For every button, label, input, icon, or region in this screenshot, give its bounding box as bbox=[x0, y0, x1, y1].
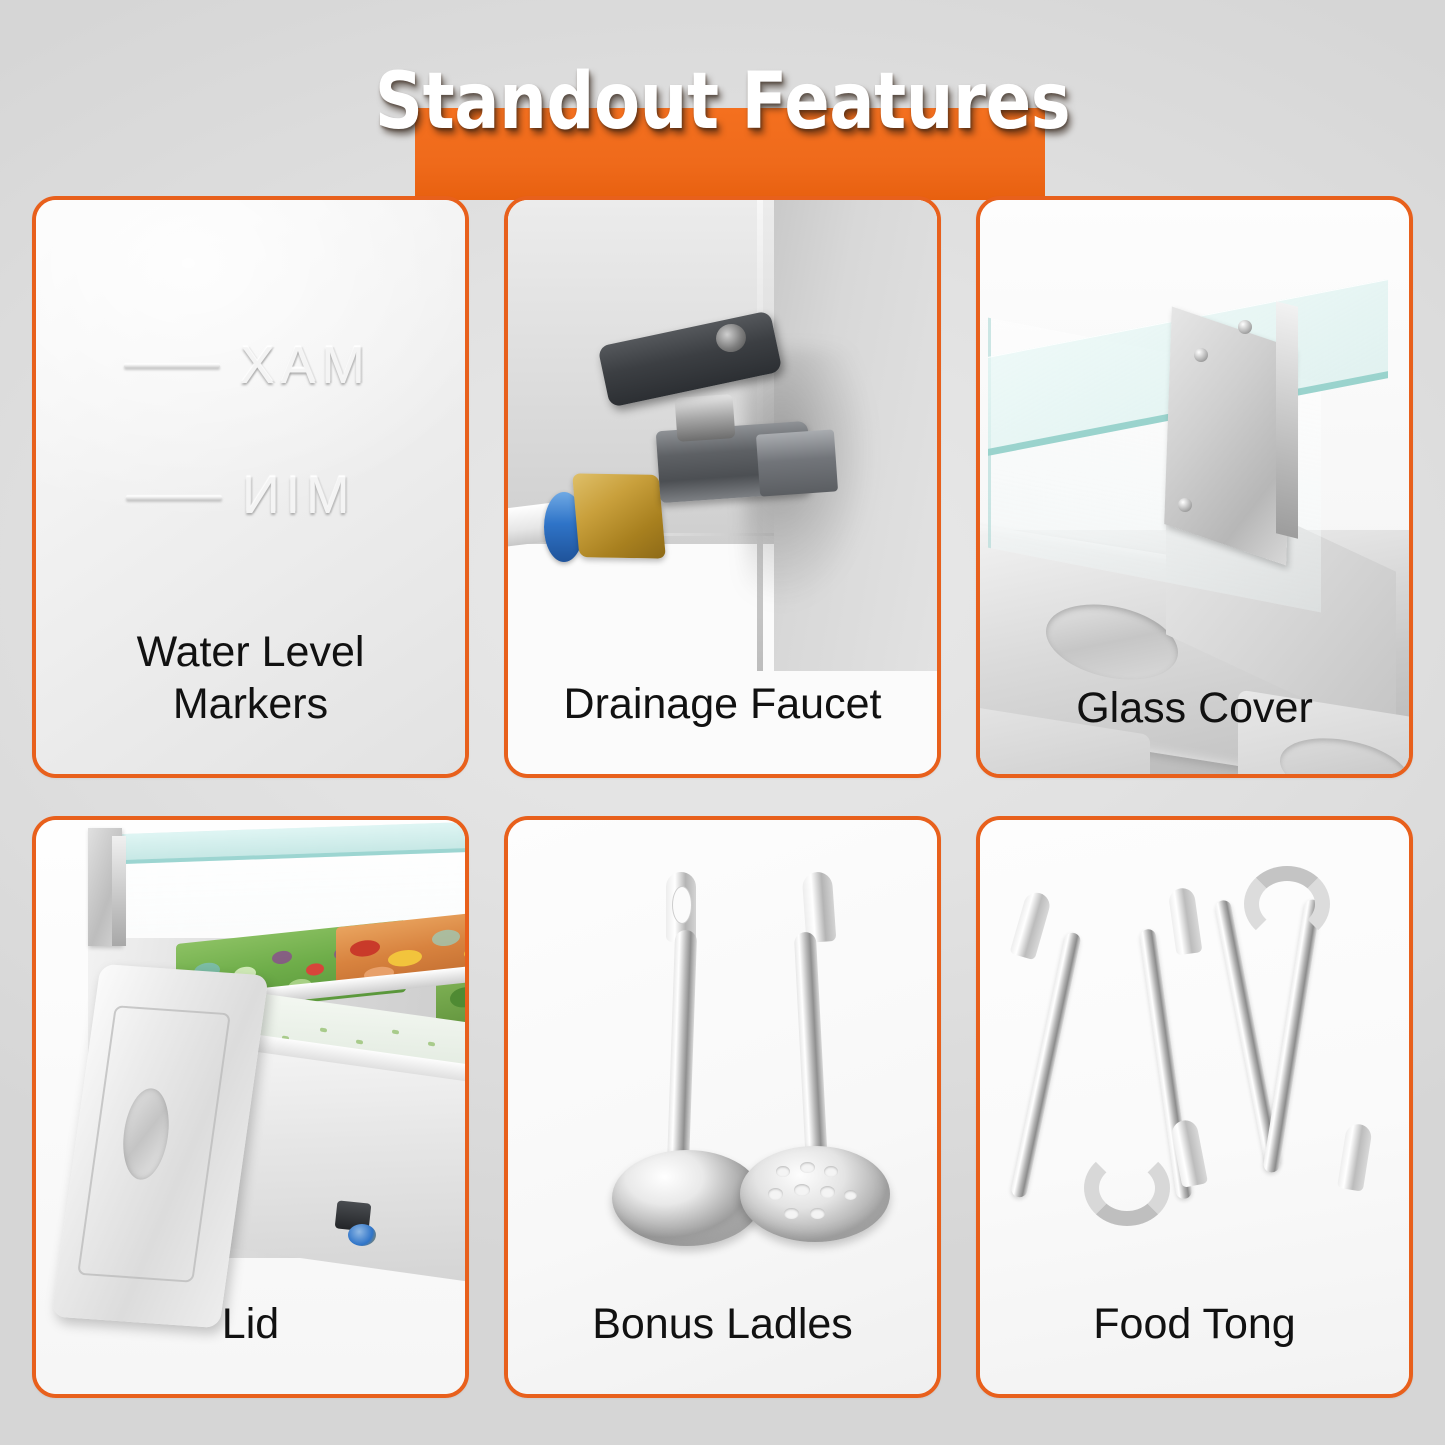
feature-card-lid[interactable]: Lid bbox=[32, 816, 469, 1398]
min-tick-line bbox=[126, 496, 222, 500]
feature-label-food-tong: Food Tong bbox=[980, 1298, 1409, 1350]
feature-label-water-level-markers-line2: Markers bbox=[36, 678, 465, 730]
valve-stem bbox=[675, 394, 736, 442]
feature-label-drainage-faucet: Drainage Faucet bbox=[508, 678, 937, 730]
feature-label-lid: Lid bbox=[36, 1298, 465, 1350]
glass-bracket bbox=[1164, 306, 1294, 565]
max-tick-line bbox=[124, 364, 220, 368]
page-title: Standout Features bbox=[0, 52, 1445, 162]
bracket-screw-icon bbox=[1238, 320, 1252, 334]
feature-card-water-level-markers[interactable]: MAX MIN Water Level Markers bbox=[32, 196, 469, 778]
embossed-max-text: MAX bbox=[234, 336, 365, 396]
feature-label-glass-cover: Glass Cover bbox=[980, 682, 1409, 734]
page-title-text: Standout Features bbox=[101, 52, 1344, 152]
feature-label-bonus-ladles: Bonus Ladles bbox=[508, 1298, 937, 1350]
valve-body-hex bbox=[756, 429, 838, 496]
feature-label-water-level-markers-line1: Water Level bbox=[36, 626, 465, 678]
feature-card-food-tong[interactable]: Food Tong bbox=[976, 816, 1413, 1398]
embossed-min-text: MIN bbox=[236, 466, 349, 526]
feature-grid: MAX MIN Water Level Markers bbox=[32, 196, 1413, 1398]
feature-card-glass-cover[interactable]: Glass Cover bbox=[976, 196, 1413, 778]
feature-card-bonus-ladles[interactable]: Bonus Ladles bbox=[504, 816, 941, 1398]
bracket-screw-icon bbox=[1178, 498, 1192, 512]
feature-card-drainage-faucet[interactable]: Drainage Faucet bbox=[504, 196, 941, 778]
bracket-screw-icon bbox=[1194, 348, 1208, 362]
infographic-page: Standout Features MAX MIN Water Level Ma… bbox=[0, 0, 1445, 1445]
brass-nut bbox=[572, 473, 666, 558]
